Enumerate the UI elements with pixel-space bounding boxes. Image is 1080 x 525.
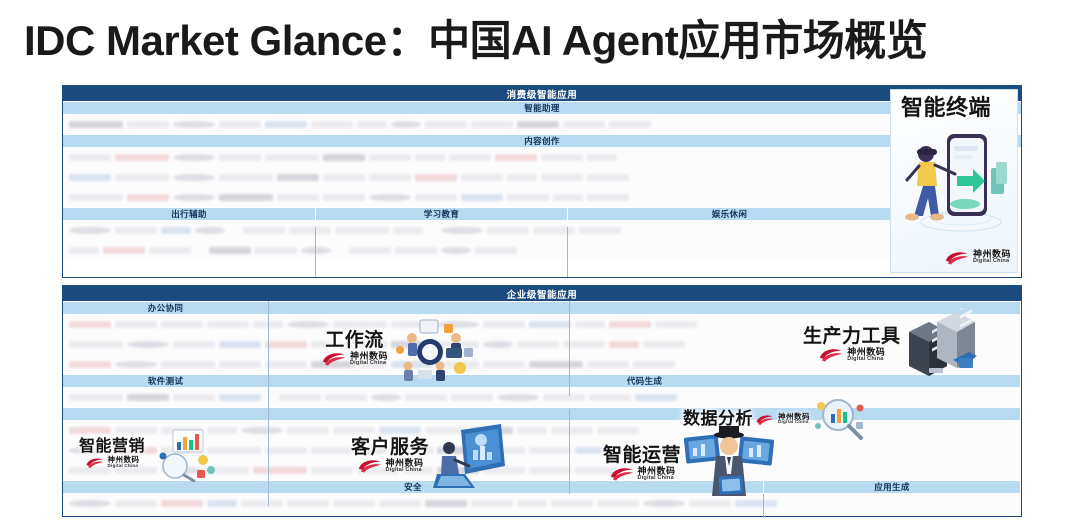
logo-row (63, 493, 1021, 513)
spacer (655, 121, 665, 128)
vendor-logo (441, 247, 471, 254)
vendor-logo (69, 321, 111, 328)
vendor-logo (69, 447, 111, 454)
vendor-logo (735, 500, 777, 507)
band-row-enterprise-mid: 软件测试 代码生成 (63, 374, 1021, 387)
vendor-logo (207, 427, 237, 434)
vendor-logo (437, 361, 479, 368)
vendor-logo (371, 394, 401, 401)
vendor-logo (69, 227, 111, 234)
band-row-enterprise-top: 办公协同 (63, 301, 1021, 314)
vendor-logo (103, 247, 145, 254)
vendor-logo (587, 154, 617, 161)
vendor-logo (357, 447, 387, 454)
logo-row (63, 420, 1021, 440)
vendor-logo (287, 500, 329, 507)
vendor-logo (579, 227, 621, 234)
column-divider (268, 301, 269, 506)
vendor-logo (575, 467, 617, 474)
vendor-logo (589, 394, 631, 401)
callout-label: 智能终端 (901, 96, 991, 119)
enterprise-section: 企业级智能应用 办公协同 (62, 285, 1022, 517)
vendor-logo (195, 227, 225, 234)
logo-grid-enterprise-top (63, 314, 1021, 374)
vendor-logo (517, 121, 559, 128)
logo-row (63, 167, 1021, 187)
logo-row (63, 440, 1021, 460)
vendor-logo (311, 361, 353, 368)
vendor-logo (219, 154, 261, 161)
vendor-logo (541, 174, 583, 181)
vendor-logo (635, 394, 677, 401)
vendor-logo (311, 341, 341, 348)
vendor-logo (69, 361, 111, 368)
band-office-collaboration: 办公协同 (63, 301, 268, 314)
vendor-logo (311, 121, 353, 128)
vendor-logo (369, 154, 411, 161)
vendor-logo (219, 194, 273, 201)
vendor-logo (587, 194, 629, 201)
vendor-logo (277, 194, 319, 201)
vendor-logo (471, 500, 513, 507)
vendor-logo (529, 447, 571, 454)
spacer (229, 227, 239, 234)
vendor-logo (357, 361, 387, 368)
vendor-logo (161, 467, 203, 474)
vendor-logo (643, 500, 685, 507)
vendor-logo (161, 361, 215, 368)
logo-row (63, 114, 1021, 134)
vendor-logo (575, 321, 605, 328)
vendor-logo (69, 174, 111, 181)
spacer (621, 154, 631, 161)
vendor-logo (115, 447, 157, 454)
vendor-logo (161, 321, 203, 328)
vendor-logo (219, 341, 261, 348)
vendor-logo (597, 500, 639, 507)
vendor-logo (483, 321, 525, 328)
band-code-generation: 代码生成 (268, 374, 1020, 387)
vendor-logo (323, 154, 365, 161)
logo-row (63, 147, 1021, 167)
band-entertainment: 娱乐休闲 (567, 207, 891, 220)
vendor-logo (287, 427, 329, 434)
vendor-logo (69, 500, 111, 507)
logo-row (63, 460, 1021, 480)
vendor-logo (517, 500, 547, 507)
vendor-logo (437, 341, 479, 348)
page-title: IDC Market Glance：中国AI Agent应用市场概览 (24, 16, 1064, 66)
column-divider (569, 301, 570, 396)
vendor-logo (487, 227, 529, 234)
vendor-logo (405, 394, 447, 401)
vendor-logo (323, 194, 365, 201)
vendor-logo (425, 121, 467, 128)
vendor-logo (333, 500, 375, 507)
band-learning-education: 学习教育 (315, 207, 567, 220)
logo-grid-consumer-bottom (63, 220, 1021, 260)
band-row-enterprise-lower (63, 407, 1021, 420)
vendor-logo (161, 500, 203, 507)
vendor-logo (541, 154, 583, 161)
digital-china-logo: 神州数码 Digital China (944, 249, 1011, 266)
brand-name-en: Digital China (973, 259, 1011, 265)
enterprise-section-header: 企业级智能应用 (63, 286, 1021, 301)
vendor-logo (587, 174, 629, 181)
vendor-logo (207, 500, 237, 507)
vendor-logo (357, 121, 387, 128)
vendor-logo (689, 500, 731, 507)
spacer (683, 121, 693, 128)
vendor-logo (243, 227, 285, 234)
vendor-logo (533, 227, 575, 234)
vendor-logo (575, 447, 617, 454)
vendor-logo (551, 500, 593, 507)
vendor-logo (149, 247, 191, 254)
spacer (633, 174, 643, 181)
vendor-logo (173, 394, 215, 401)
vendor-logo (471, 427, 513, 434)
vendor-logo (451, 394, 493, 401)
vendor-logo (391, 321, 433, 328)
vendor-logo (115, 154, 169, 161)
vendor-logo (69, 121, 123, 128)
vendor-logo (391, 361, 433, 368)
column-divider (567, 227, 568, 277)
vendor-logo (497, 394, 539, 401)
vendor-logo (425, 500, 467, 507)
vendor-logo (173, 194, 215, 201)
band-spacer-top (268, 301, 1020, 314)
consumer-section-header: 消费级智能应用 (63, 86, 1021, 101)
vendor-logo (633, 361, 675, 368)
vendor-logo (587, 361, 629, 368)
logo-grid-enterprise-lower (63, 420, 1021, 480)
vendor-logo (219, 361, 261, 368)
spacer (633, 194, 643, 201)
vendor-logo (335, 227, 389, 234)
vendor-logo (391, 341, 433, 348)
vendor-logo (475, 247, 517, 254)
vendor-logo (609, 321, 651, 328)
vendor-logo (461, 174, 503, 181)
vendor-logo (597, 427, 639, 434)
vendor-logo (393, 227, 423, 234)
vendor-logo (403, 467, 433, 474)
vendor-logo (253, 467, 307, 474)
column-divider (315, 227, 316, 277)
vendor-logo (115, 321, 157, 328)
vendor-logo (219, 394, 261, 401)
vendor-logo (69, 467, 111, 474)
vendor-logo (173, 174, 215, 181)
vendor-logo (357, 467, 399, 474)
logo-row (63, 334, 1021, 354)
column-divider (569, 409, 570, 494)
spacer (669, 121, 679, 128)
vendor-logo (495, 154, 537, 161)
smart-terminal-illustration (899, 124, 1017, 236)
vendor-logo (219, 174, 273, 181)
vendor-logo (115, 500, 157, 507)
vendor-logo (265, 447, 307, 454)
vendor-logo (391, 447, 433, 454)
band-app-generation: 应用生成 (763, 480, 1020, 493)
spacer (427, 227, 437, 234)
vendor-logo (115, 361, 157, 368)
vendor-logo (609, 121, 651, 128)
band-row-enterprise-bottom: 安全 应用生成 (63, 480, 1021, 493)
vendor-logo (507, 194, 549, 201)
vendor-logo (437, 447, 479, 454)
vendor-logo (207, 321, 249, 328)
vendor-logo (323, 174, 365, 181)
vendor-logo (69, 247, 99, 254)
vendor-logo (483, 447, 525, 454)
vendor-logo (449, 154, 491, 161)
vendor-logo (551, 427, 593, 434)
vendor-logo (115, 467, 157, 474)
vendor-logo (289, 227, 331, 234)
vendor-logo (161, 227, 191, 234)
vendor-logo (391, 121, 421, 128)
vendor-logo (265, 361, 307, 368)
vendor-logo (415, 194, 457, 201)
vendor-logo (543, 394, 585, 401)
vendor-logo (395, 247, 437, 254)
vendor-logo (425, 427, 467, 434)
spacer (195, 247, 205, 254)
logo-row (63, 187, 1021, 207)
vendor-logo (609, 341, 639, 348)
vendor-logo (483, 361, 525, 368)
logo-row (63, 314, 1021, 334)
vendor-logo (241, 427, 283, 434)
market-glance-matrix: 消费级智能应用 智能助理 (62, 85, 1022, 517)
vendor-logo (379, 427, 421, 434)
vendor-logo (349, 247, 391, 254)
vendor-logo (265, 341, 307, 348)
vendor-logo (69, 341, 123, 348)
vendor-logo (207, 447, 261, 454)
spacer (265, 394, 275, 401)
vendor-logo (507, 174, 537, 181)
vendor-logo (69, 427, 111, 434)
logo-grid-enterprise-mid (63, 387, 1021, 407)
vendor-logo (161, 447, 203, 454)
vendor-logo (173, 341, 215, 348)
vendor-logo (483, 341, 513, 348)
logo-grid-enterprise-bottom (63, 493, 1021, 513)
vendor-logo (437, 467, 479, 474)
vendor-logo (209, 247, 251, 254)
logo-row (63, 240, 1021, 260)
vendor-logo (207, 467, 249, 474)
vendor-logo (241, 500, 283, 507)
vendor-logo (127, 121, 169, 128)
band-spacer-lower (63, 407, 1020, 420)
vendor-logo (529, 467, 571, 474)
vendor-logo (69, 194, 123, 201)
vendor-logo (173, 121, 215, 128)
vendor-logo (529, 321, 571, 328)
vendor-logo (461, 194, 503, 201)
vendor-logo (69, 394, 123, 401)
vendor-logo (517, 427, 547, 434)
vendor-logo (173, 154, 215, 161)
logo-row (63, 387, 1021, 407)
vendor-logo (69, 154, 111, 161)
vendor-logo (415, 174, 457, 181)
digital-china-mark-icon (944, 249, 970, 266)
vendor-logo (301, 247, 331, 254)
vendor-logo (265, 121, 307, 128)
vendor-logo (311, 447, 353, 454)
column-divider (763, 494, 764, 518)
vendor-logo (517, 341, 559, 348)
vendor-logo (279, 394, 321, 401)
spacer (635, 154, 645, 161)
vendor-logo (345, 341, 387, 348)
vendor-logo (553, 194, 583, 201)
vendor-logo (325, 394, 367, 401)
vendor-logo (287, 321, 329, 328)
vendor-logo (115, 227, 157, 234)
logo-row (63, 220, 1021, 240)
band-smart-assistant: 智能助理 (63, 101, 1021, 114)
band-travel-assist: 出行辅助 (63, 207, 315, 220)
vendor-logo (643, 341, 685, 348)
vendor-logo (127, 194, 169, 201)
logo-row (63, 354, 1021, 374)
vendor-logo (369, 174, 411, 181)
panel-smart-terminal: 智能终端 (890, 89, 1018, 273)
vendor-logo (333, 427, 375, 434)
consumer-section: 消费级智能应用 智能助理 (62, 85, 1022, 278)
band-content-creation: 内容创作 (63, 134, 1021, 147)
vendor-logo (379, 500, 421, 507)
vendor-logo (529, 361, 583, 368)
band-software-testing: 软件测试 (63, 374, 268, 387)
vendor-logo (127, 394, 169, 401)
callout-smart-terminal: 智能终端 (901, 96, 991, 119)
vendor-logo (483, 467, 525, 474)
spacer (335, 247, 345, 254)
vendor-logo (265, 154, 319, 161)
vendor-logo (161, 427, 203, 434)
vendor-logo (655, 321, 697, 328)
logo-grid-smart-assistant (63, 114, 1021, 134)
vendor-logo (127, 341, 169, 348)
vendor-logo (311, 467, 353, 474)
vendor-logo (441, 227, 483, 234)
logo-grid-content-creation (63, 147, 1021, 207)
band-security: 安全 (63, 480, 763, 493)
vendor-logo (369, 194, 411, 201)
vendor-logo (437, 321, 479, 328)
vendor-logo (115, 174, 169, 181)
vendor-logo (415, 154, 445, 161)
vendor-logo (471, 121, 513, 128)
vendor-logo (277, 174, 319, 181)
band-row-consumer-bottom: 出行辅助 学习教育 娱乐休闲 (63, 207, 1021, 220)
vendor-logo (333, 321, 387, 328)
vendor-logo (219, 121, 261, 128)
vendor-logo (563, 121, 605, 128)
vendor-logo (255, 247, 297, 254)
vendor-logo (115, 427, 157, 434)
